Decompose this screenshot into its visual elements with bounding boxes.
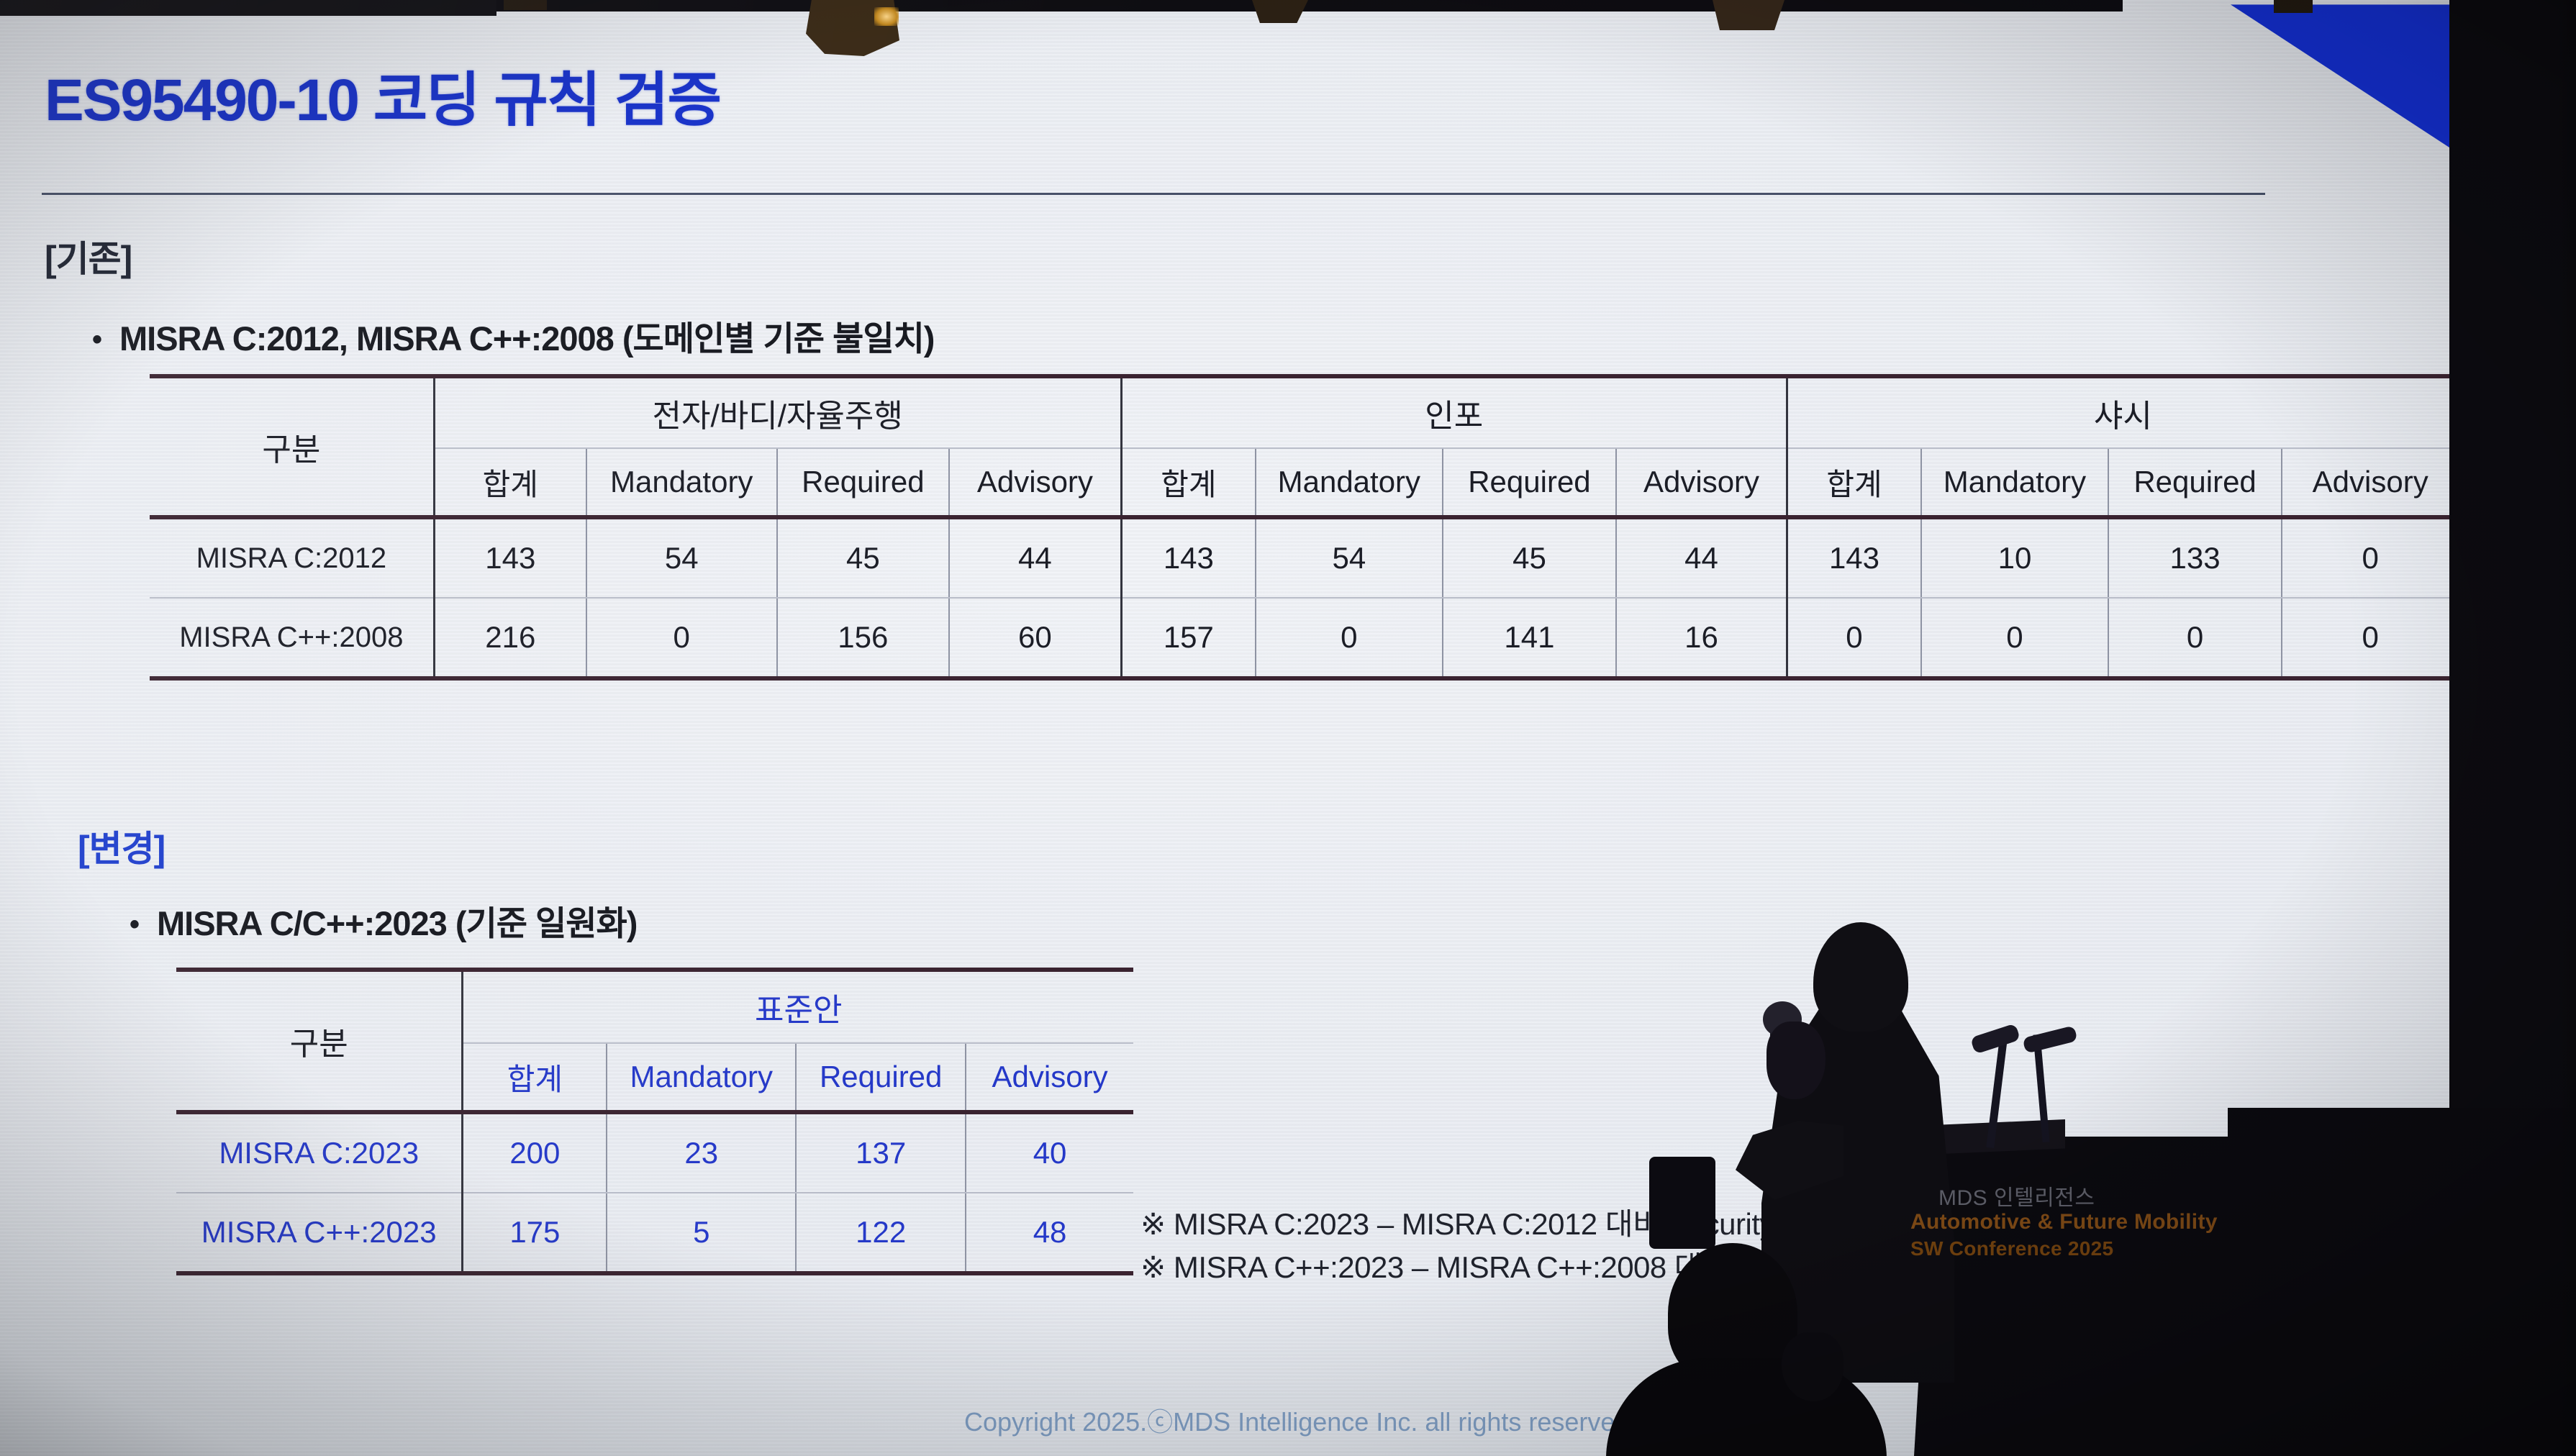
cell: 133 [2108,517,2282,598]
cell: 0 [586,598,777,678]
cell: 143 [1787,517,1921,598]
row-label-misra-c-2023: MISRA C:2023 [176,1112,463,1193]
th-sum-2: 합계 [1121,448,1256,517]
th-sum-3: 합계 [1787,448,1921,517]
th-advisory-1: Advisory [949,448,1121,517]
cell: 0 [2108,598,2282,678]
table-changed-head: 구분 표준안 합계 Mandatory Required Advisory [176,970,1133,1112]
cell: 216 [434,598,586,678]
table-row: MISRA C:2023 200 23 137 40 [176,1112,1133,1193]
bullet-dot-icon: • [130,909,157,941]
th-mandatory-1: Mandatory [586,448,777,517]
ceiling-strip [496,0,2123,12]
ceiling-light-1 [504,0,547,10]
th-mandatory-std: Mandatory [607,1043,796,1112]
th-required-1: Required [777,448,950,517]
ceiling-light-4 [1713,0,1784,30]
bullet-dot-icon: • [92,324,119,356]
copyright-notice: Copyright 2025.ⓒMDS Intelligence Inc. al… [964,1401,1636,1439]
table-existing-body: MISRA C:2012 143 54 45 44 143 54 45 44 1… [150,517,2458,678]
th-gubun-2: 구분 [176,970,463,1112]
cell: 141 [1443,598,1617,678]
podium-event-line-1: Automotive & Future Mobility [1910,1210,2218,1234]
ceiling-light-2-glow [874,7,899,26]
cell: 45 [777,517,950,598]
table-existing-head: 구분 전자/바디/자율주행 인포 샤시 합계 Mandatory Require… [150,376,2458,517]
screen-right-edge-shadow [2557,0,2576,1456]
th-mandatory-3: Mandatory [1921,448,2108,517]
table-row: MISRA C++:2008 216 0 156 60 157 0 141 16… [150,598,2458,678]
th-group-info: 인포 [1121,376,1787,448]
th-mandatory-2: Mandatory [1256,448,1443,517]
table-existing-subhead-row: 합계 Mandatory Required Advisory 합계 Mandat… [150,448,2458,517]
cell: 48 [966,1193,1133,1273]
table-changed-group-row: 구분 표준안 [176,970,1133,1043]
podium-brand-label: MDS 인텔리전스 [1938,1180,2095,1211]
cell: 40 [966,1112,1133,1193]
row-label-misra-c-2012: MISRA C:2012 [150,517,434,598]
th-gubun: 구분 [150,376,434,517]
section-label-changed: [변경] [78,820,165,872]
conference-photo-stage: ES95490-10 코딩 규칙 검증 [기존] •MISRA C:2012, … [0,0,2576,1456]
th-required-std: Required [796,1043,966,1112]
title-divider [42,193,2265,195]
cell: 60 [949,598,1121,678]
audience-phone-silhouette [1649,1157,1715,1249]
cell: 175 [463,1193,607,1273]
cell: 200 [463,1112,607,1193]
cell: 44 [949,517,1121,598]
cell: 10 [1921,517,2108,598]
cell: 0 [1921,598,2108,678]
ceiling-shadow-left [0,0,496,16]
cell: 143 [434,517,586,598]
cell: 143 [1121,517,1256,598]
cell: 0 [1787,598,1921,678]
page-title: ES95490-10 코딩 규칙 검증 [45,52,720,137]
audience-hand-silhouette [1782,1332,1843,1401]
cell: 54 [1256,517,1443,598]
th-required-3: Required [2108,448,2282,517]
row-label-misra-cpp-2023: MISRA C++:2023 [176,1193,463,1273]
bullet-changed-text: MISRA C/C++:2023 (기준 일원화) [157,904,637,942]
speaker-hand-silhouette [1767,1022,1826,1099]
cell: 5 [607,1193,796,1273]
th-sum-1: 합계 [434,448,586,517]
th-group-electronics: 전자/바디/자율주행 [434,376,1121,448]
podium-event-line-2: SW Conference 2025 [1910,1237,2113,1260]
cell: 0 [2282,517,2458,598]
table-existing-standards: 구분 전자/바디/자율주행 인포 샤시 합계 Mandatory Require… [150,374,2458,681]
th-advisory-3: Advisory [2282,448,2458,517]
th-sum-std: 합계 [463,1043,607,1112]
cell: 156 [777,598,950,678]
cell: 157 [1121,598,1256,678]
cell: 16 [1616,598,1787,678]
th-advisory-2: Advisory [1616,448,1787,517]
cell: 23 [607,1112,796,1193]
th-group-standard: 표준안 [463,970,1133,1043]
cell: 44 [1616,517,1787,598]
table-changed-body: MISRA C:2023 200 23 137 40 MISRA C++:202… [176,1112,1133,1273]
bullet-existing-text: MISRA C:2012, MISRA C++:2008 (도메인별 기준 불일… [119,319,934,358]
table-row: MISRA C++:2023 175 5 122 48 [176,1193,1133,1273]
bullet-existing: •MISRA C:2012, MISRA C++:2008 (도메인별 기준 불… [92,311,934,360]
cell: 137 [796,1112,966,1193]
section-label-existing: [기존] [45,230,132,282]
cell: 0 [2282,598,2458,678]
cell: 0 [1256,598,1443,678]
row-label-misra-cpp-2008: MISRA C++:2008 [150,598,434,678]
floor-shadow-right [2228,1108,2576,1456]
th-required-2: Required [1443,448,1617,517]
cell: 54 [586,517,777,598]
cell: 45 [1443,517,1617,598]
th-advisory-std: Advisory [966,1043,1133,1112]
table-changed-standard: 구분 표준안 합계 Mandatory Required Advisory MI… [176,968,1133,1275]
cell: 122 [796,1193,966,1273]
table-existing-group-row: 구분 전자/바디/자율주행 인포 샤시 [150,376,2458,448]
th-group-chassis: 샤시 [1787,376,2458,448]
table-row: MISRA C:2012 143 54 45 44 143 54 45 44 1… [150,517,2458,598]
bullet-changed: •MISRA C/C++:2023 (기준 일원화) [130,896,637,945]
ceiling-light-5 [2274,0,2313,13]
